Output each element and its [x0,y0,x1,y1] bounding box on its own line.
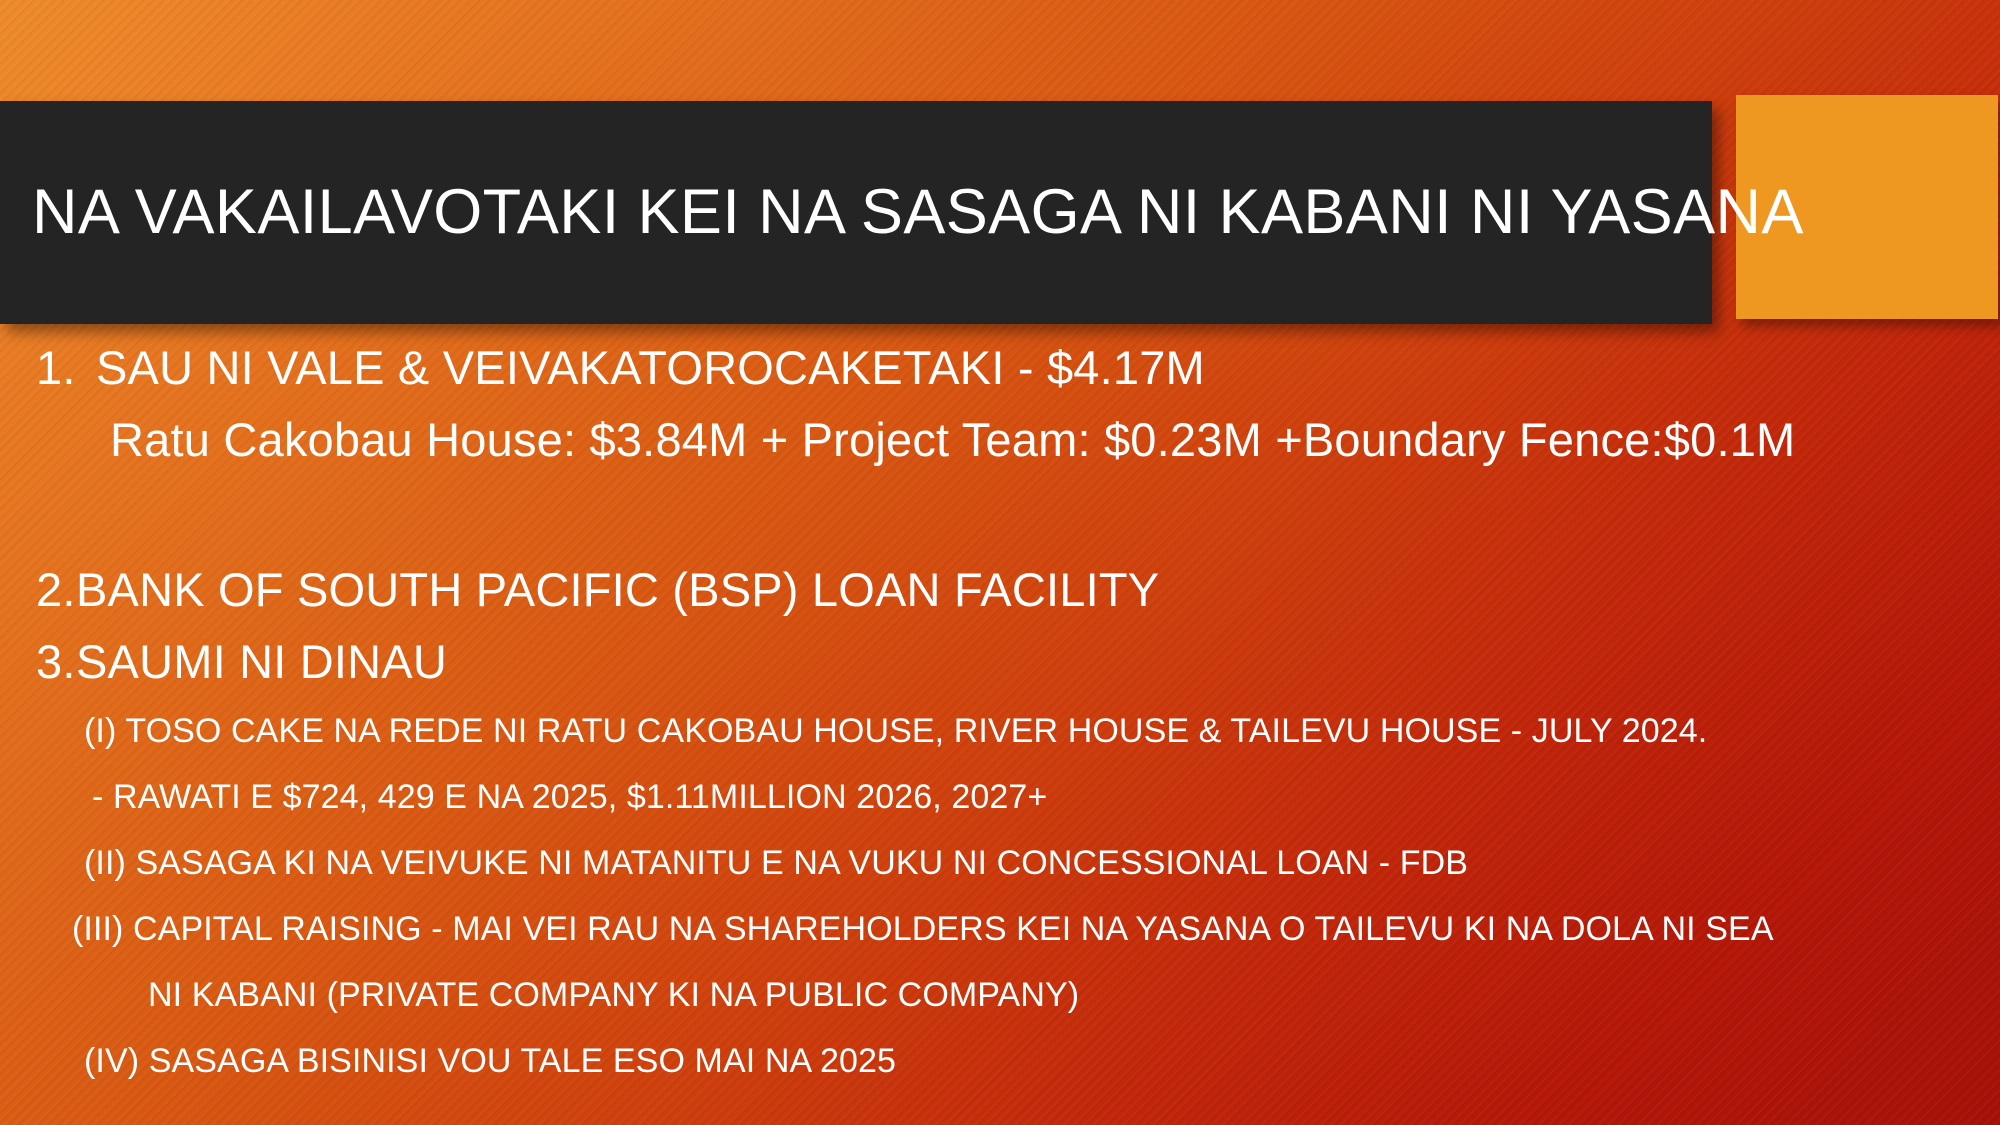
list-item-3-number: 3. [36,626,76,698]
sub-list-item-ii: (II) SASAGA KI NA VEIVUKE NI MATANITU E … [0,830,2000,896]
sub-list-item-iii-continued: NI KABANI (PRIVATE COMPANY KI NA PUBLIC … [0,962,2000,1028]
sub-list-item-i: (I) TOSO CAKE NA REDE NI RATU CAKOBAU HO… [0,698,2000,764]
title-banner: NA VAKAILAVOTAKI KEI NA SASAGA NI KABANI… [0,101,1712,324]
sub-list-item-iii: (III) CAPITAL RAISING - MAI VEI RAU NA S… [0,896,2000,962]
presentation-slide: NA VAKAILAVOTAKI KEI NA SASAGA NI KABANI… [0,0,2000,1125]
list-item-1-number: 1. [36,332,96,404]
list-item-2-label: BANK OF SOUTH PACIFIC (BSP) LOAN FACILIT… [76,563,1159,616]
body-spacer [0,476,2000,554]
page-title: NA VAKAILAVOTAKI KEI NA SASAGA NI KABANI… [0,179,1828,245]
list-item-1-label: SAU NI VALE & VEIVAKATOROCAKETAKI - $4.1… [96,341,1205,394]
list-item-2-number: 2. [36,554,76,626]
list-item-1: 1.SAU NI VALE & VEIVAKATOROCAKETAKI - $4… [0,332,2000,404]
list-item-3: 3.SAUMI NI DINAU [0,626,2000,698]
list-item-1-detail: Ratu Cakobau House: $3.84M + Project Tea… [0,404,2000,476]
sub-list-item-iv: (IV) SASAGA BISINISI VOU TALE ESO MAI NA… [0,1028,2000,1094]
list-item-3-label: SAUMI NI DINAU [76,635,447,688]
list-item-2: 2.BANK OF SOUTH PACIFIC (BSP) LOAN FACIL… [0,554,2000,626]
slide-body: 1.SAU NI VALE & VEIVAKATOROCAKETAKI - $4… [0,332,2000,1094]
sub-list-item-i-detail: - RAWATI E $724, 429 E NA 2025, $1.11MIL… [0,764,2000,830]
